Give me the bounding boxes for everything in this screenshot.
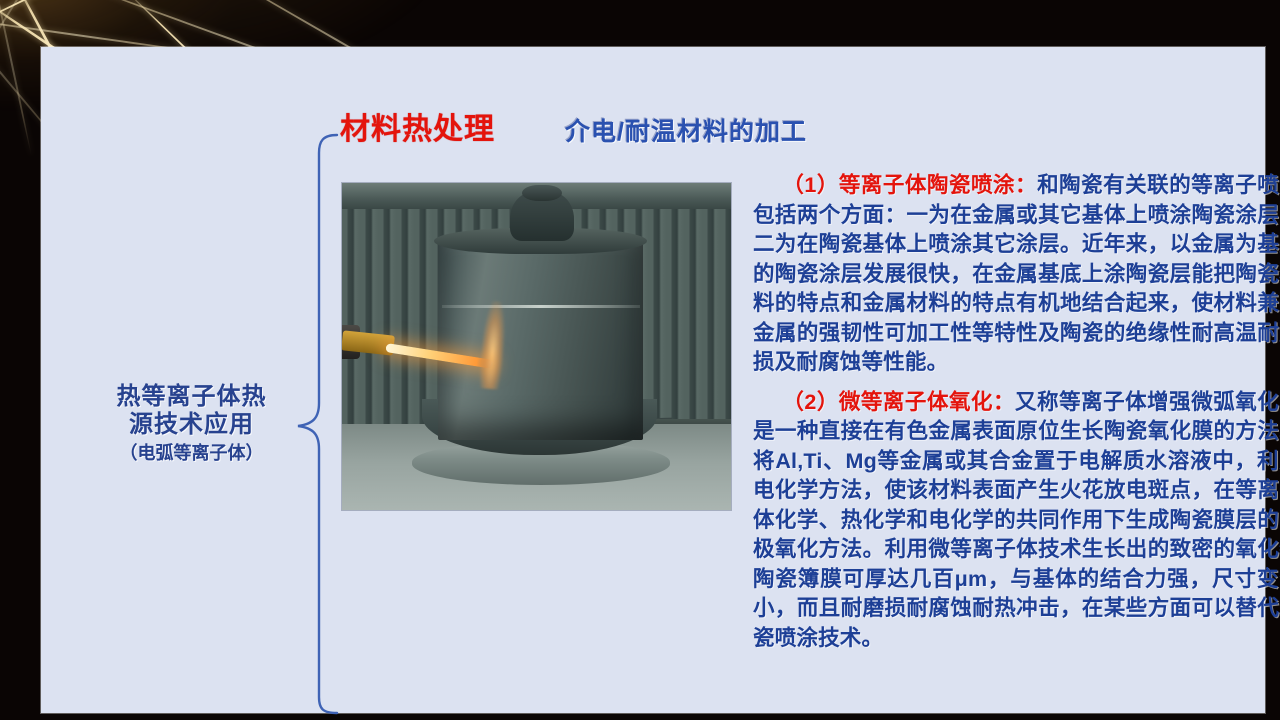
page-title-blue: 介电/耐温材料的加工 [565, 120, 807, 145]
left-topic-label-line3: （电弧等离子体） [89, 443, 294, 464]
photo-workpiece-body [438, 235, 643, 440]
paragraph-2-text: 又称等离子体增强微弧氧化，是一种直接在有色金属表面原位生长陶瓷氧化膜的方法。将A… [753, 390, 1280, 650]
photo-workpiece-highlight-band [442, 305, 640, 308]
left-topic-label: 热等离子体热 源技术应用 （电弧等离子体） [89, 383, 294, 464]
paragraph-1: （1）等离子体陶瓷喷涂：和陶瓷有关联的等离子喷涂包括两个方面：一为在金属或其它基… [753, 171, 1280, 378]
paragraph-1-heading: 等离子体陶瓷喷涂： [839, 173, 1037, 197]
paragraph-1-number: （1） [782, 173, 839, 197]
photo-workpiece-hub-cap [522, 185, 562, 201]
paragraph-1-text: 和陶瓷有关联的等离子喷涂包括两个方面：一为在金属或其它基体上喷涂陶瓷涂层，二为在… [753, 173, 1280, 374]
curly-brace-icon [293, 131, 339, 717]
paragraph-2-number: （2） [782, 390, 839, 414]
slide-panel: 材料热处理 介电/耐温材料的加工 热等离子体热 源技术应用 （电弧等离子体） （… [41, 47, 1265, 713]
body-text-column: （1）等离子体陶瓷喷涂：和陶瓷有关联的等离子喷涂包括两个方面：一为在金属或其它基… [753, 171, 1280, 653]
left-topic-label-line2: 源技术应用 [89, 411, 294, 439]
left-topic-label-line1: 热等离子体热 [89, 383, 294, 411]
plasma-spray-photo [342, 183, 731, 510]
paragraph-2-heading: 微等离子体氧化： [839, 390, 1015, 414]
paragraph-2: （2）微等离子体氧化：又称等离子体增强微弧氧化，是一种直接在有色金属表面原位生长… [753, 388, 1280, 654]
page-title-red: 材料热处理 [340, 115, 495, 145]
